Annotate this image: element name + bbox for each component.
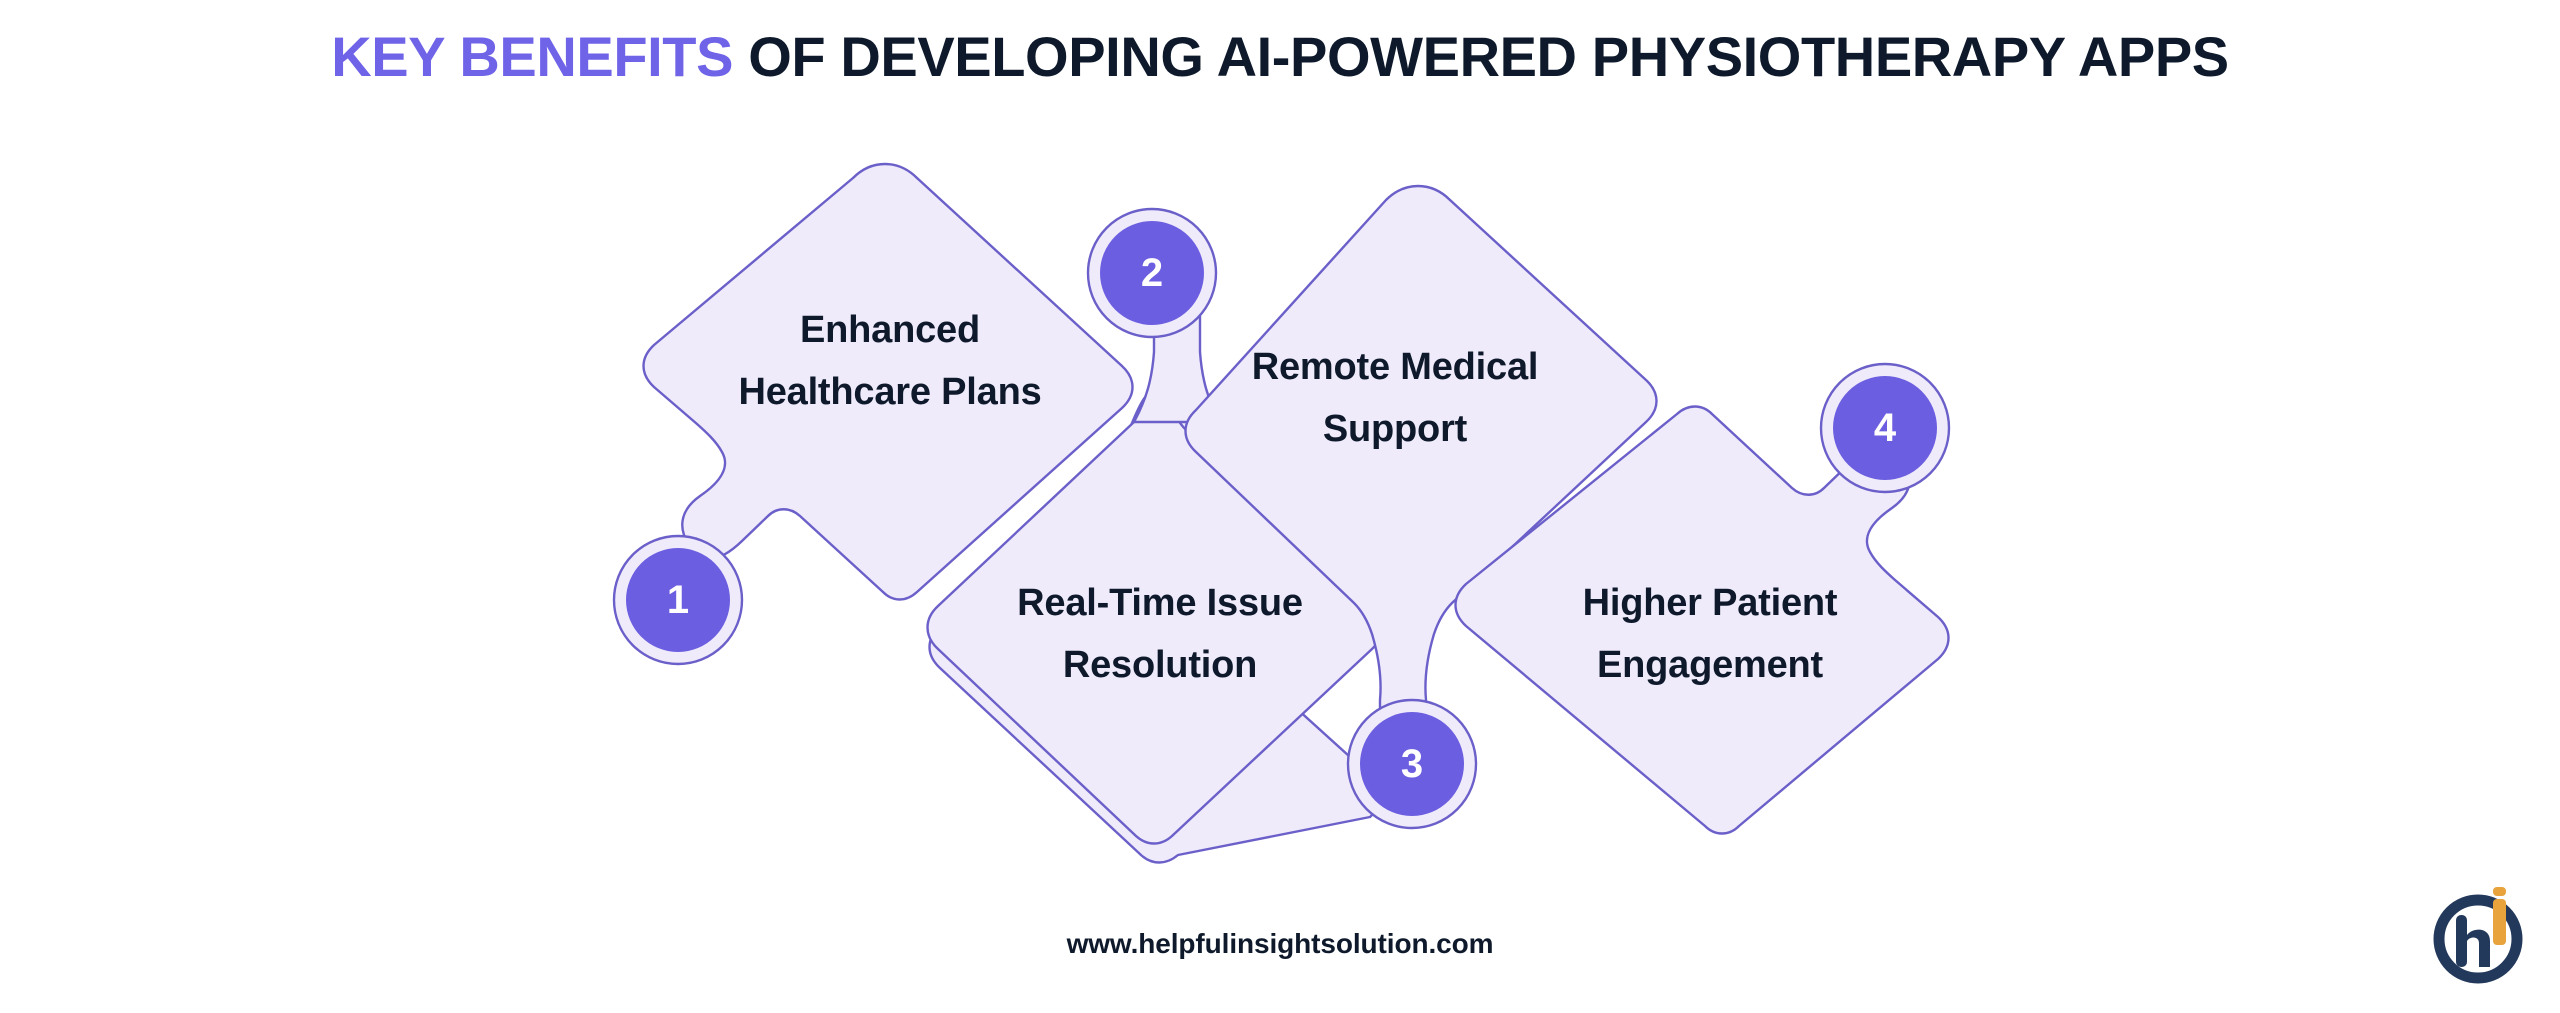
benefits-diagram: 1 2 3 4: [0, 0, 2560, 1013]
helpful-insight-solution-logo-icon: [2420, 873, 2540, 993]
infographic-canvas: KEY BENEFITS OF DEVELOPING AI-POWERED PH…: [0, 0, 2560, 1013]
badge-1-number: 1: [667, 578, 689, 622]
title-accent-text: KEY BENEFITS: [331, 25, 733, 88]
page-title: KEY BENEFITS OF DEVELOPING AI-POWERED PH…: [0, 28, 2560, 87]
title-main-text: OF DEVELOPING AI-POWERED PHYSIOTHERAPY A…: [733, 25, 2229, 88]
badge-4-number: 4: [1874, 406, 1897, 450]
badge-2-number: 2: [1141, 251, 1163, 295]
badge-3-number: 3: [1401, 742, 1423, 786]
footer-website-url[interactable]: www.helpfulinsightsolution.com: [0, 928, 2560, 960]
